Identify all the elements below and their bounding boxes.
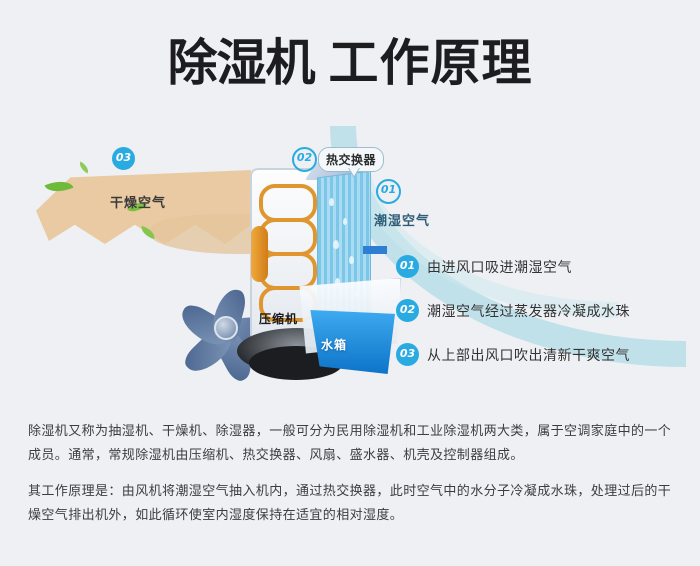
callout-badge-02: 02 [292, 147, 317, 172]
step-item-02: 02 潮湿空气经过蒸发器冷凝成水珠 [396, 299, 686, 322]
callout-bubble-pointer [348, 168, 360, 178]
callout-badge-03: 03 [112, 147, 135, 170]
callout-heat-exchanger: 02 热交换器 [292, 146, 317, 172]
water-droplet [349, 256, 354, 264]
water-tank-label: 水箱 [321, 336, 347, 353]
callout-label-dry-air: 干燥空气 [110, 192, 196, 211]
description-paragraph-1: 除湿机又称为抽湿机、干燥机、除湿器，一般可分为民用除湿机和工业除湿机两大类，属于… [28, 420, 676, 468]
step-item-03: 03 从上部出风口吹出清新干爽空气 [396, 343, 686, 366]
step-badge-01: 01 [396, 255, 419, 278]
step-list: 01 由进风口吸进潮湿空气 02 潮湿空气经过蒸发器冷凝成水珠 03 从上部出风… [396, 255, 686, 387]
coil-tube [259, 184, 317, 222]
callout-badge-01: 01 [376, 179, 401, 204]
dehumidifier-cutaway-illustration: 压缩机 水箱 [245, 160, 390, 390]
step-item-01: 01 由进风口吸进潮湿空气 [396, 255, 686, 278]
step-text-02: 潮湿空气经过蒸发器冷凝成水珠 [427, 301, 630, 321]
step-badge-03: 03 [396, 343, 419, 366]
compressor-cylinder [251, 226, 268, 282]
water-droplet [329, 198, 334, 206]
callout-label-humid-air: 潮湿空气 [374, 210, 460, 229]
step-text-03: 从上部出风口吹出清新干爽空气 [427, 345, 630, 365]
step-badge-02: 02 [396, 299, 419, 322]
leaf-icon [77, 161, 91, 173]
callout-humid-air: 01 潮湿空气 [376, 178, 401, 204]
page-title-part-b: 工作原理 [329, 34, 533, 92]
infographic-page: 除湿机工作原理 [0, 0, 700, 566]
fan-hub [214, 316, 238, 340]
water-droplet [333, 240, 339, 249]
description-paragraph-2: 其工作原理是：由风机将潮湿空气抽入机内，通过热交换器，此时空气中的水分子冷凝成水… [28, 480, 676, 528]
callout-dry-air: 03 干燥空气 [112, 146, 135, 170]
page-title: 除湿机工作原理 [0, 34, 700, 92]
page-title-part-a: 除湿机 [168, 34, 315, 92]
water-droplet [343, 218, 347, 225]
step-text-01: 由进风口吸进潮湿空气 [427, 257, 572, 277]
airflow-inlet-arrow [363, 246, 387, 254]
compressor-label: 压缩机 [259, 310, 298, 327]
